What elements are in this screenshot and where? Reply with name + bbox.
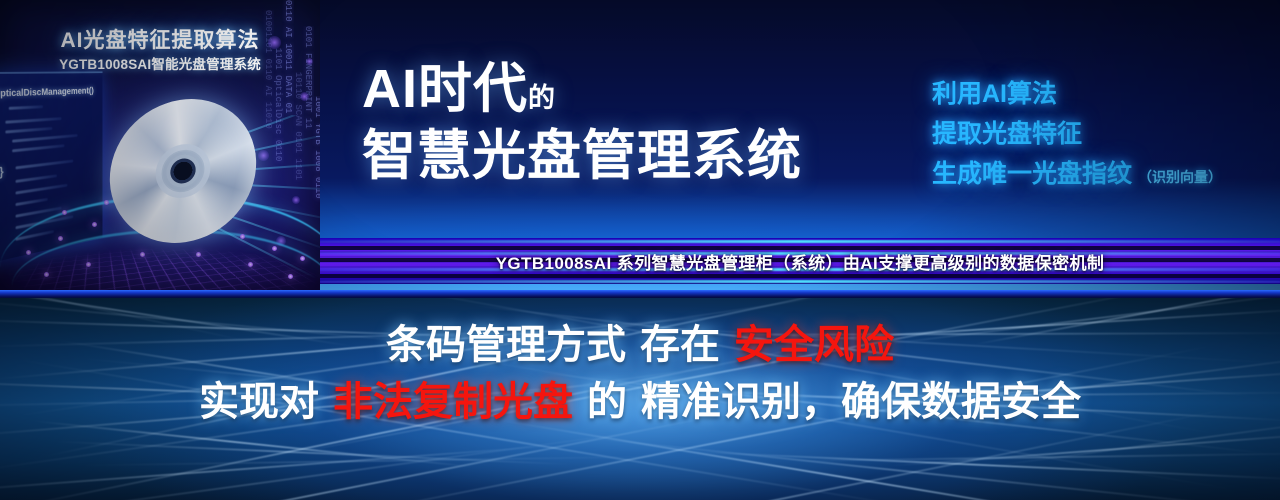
code-line bbox=[5, 127, 52, 133]
promo-banner: 01001101 0110 AI 110101101 OpticalDisc 0… bbox=[0, 0, 1280, 500]
subtitle-strip-text: YGTB1008sAI 系列智慧光盘管理柜（系统）由AI支撑更高级别的数据保密机… bbox=[320, 238, 1280, 284]
feature-text: 生成唯一光盘指纹 bbox=[932, 160, 1132, 188]
headline-line-1-suffix: 的 bbox=[528, 83, 556, 113]
bottom-line-1-highlight: 安全风险 bbox=[734, 323, 894, 367]
feature-list: 利用AI算法 提取光盘特征 生成唯一光盘指纹（识别向量） bbox=[932, 76, 1222, 196]
feature-text: 利用AI算法 bbox=[932, 80, 1057, 108]
headline-line-2: 智慧光盘管理系统 bbox=[362, 129, 802, 184]
feature-item: 生成唯一光盘指纹（识别向量） bbox=[932, 156, 1222, 196]
subtitle-strip: YGTB1008sAI 系列智慧光盘管理柜（系统）由AI支撑更高级别的数据保密机… bbox=[320, 238, 1280, 284]
bottom-line-2-seg: 的 bbox=[587, 380, 627, 424]
mesh-node bbox=[300, 256, 305, 261]
bottom-line-2-seg: 精准识别，确保数据安全 bbox=[641, 380, 1081, 424]
headline-line-1: AI时代的 bbox=[362, 62, 802, 117]
mesh-node bbox=[248, 262, 253, 267]
mesh-node bbox=[44, 272, 49, 277]
bottom-line-1-seg: 存在 bbox=[640, 323, 720, 367]
code-line bbox=[5, 117, 61, 123]
feature-note: （识别向量） bbox=[1138, 169, 1222, 185]
inset-subtitle: YGTB1008SAI智能光盘管理系统 bbox=[0, 53, 320, 73]
feature-text: 提取光盘特征 bbox=[932, 120, 1082, 148]
mesh-node bbox=[196, 252, 201, 257]
code-line bbox=[16, 160, 74, 170]
bottom-line-2: 实现对非法复制光盘的精准识别，确保数据安全 bbox=[0, 377, 1280, 428]
bottom-text-block: 条码管理方式存在安全风险 实现对非法复制光盘的精准识别，确保数据安全 bbox=[0, 320, 1280, 428]
mesh-node bbox=[62, 210, 67, 215]
mesh-node bbox=[104, 200, 109, 205]
headline-line-1-main: AI时代 bbox=[362, 59, 528, 119]
bottom-section: 条码管理方式存在安全风险 实现对非法复制光盘的精准识别，确保数据安全 bbox=[0, 298, 1280, 500]
mesh-node bbox=[92, 222, 97, 227]
mesh-node bbox=[26, 250, 31, 255]
feature-item: 提取光盘特征 bbox=[932, 116, 1222, 156]
mesh-node bbox=[272, 246, 277, 251]
code-line bbox=[12, 144, 64, 152]
code-line bbox=[12, 134, 77, 143]
bottom-line-2-seg: 实现对 bbox=[199, 380, 319, 424]
code-line bbox=[16, 198, 48, 206]
code-caption: OpticalDiscManagement() bbox=[0, 85, 94, 99]
mesh-node bbox=[240, 234, 245, 239]
mesh-node bbox=[58, 236, 63, 241]
code-line bbox=[16, 184, 68, 195]
product-inset-panel: 01001101 0110 AI 110101101 OpticalDisc 0… bbox=[0, 0, 320, 298]
headline: AI时代的 智慧光盘管理系统 bbox=[362, 62, 802, 184]
code-brace-close: }} bbox=[0, 164, 4, 180]
mesh-node bbox=[288, 274, 293, 279]
code-line bbox=[16, 174, 57, 183]
inset-title: AI光盘特征提取算法 bbox=[0, 24, 320, 54]
feature-item: 利用AI算法 bbox=[932, 76, 1222, 116]
bottom-line-1-seg: 条码管理方式 bbox=[386, 323, 626, 367]
code-line bbox=[9, 105, 43, 110]
top-section: 01001101 0110 AI 110101101 OpticalDisc 0… bbox=[0, 0, 1280, 298]
mesh-node bbox=[86, 262, 91, 267]
bokeh-dot bbox=[300, 92, 309, 101]
bottom-line-2-highlight: 非法复制光盘 bbox=[333, 380, 573, 424]
bottom-line-1: 条码管理方式存在安全风险 bbox=[0, 320, 1280, 371]
